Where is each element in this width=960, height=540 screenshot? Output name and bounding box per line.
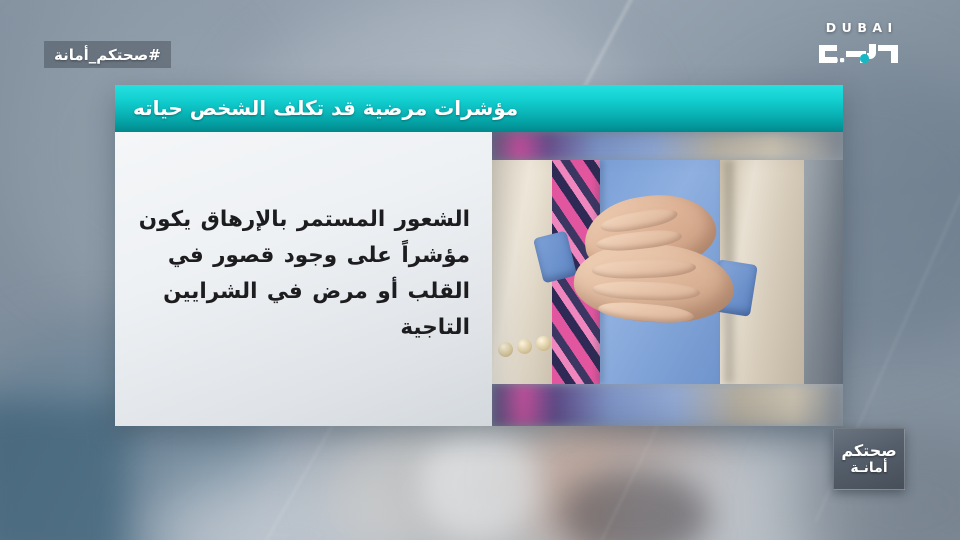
channel-wordmark: DUBAI — [813, 22, 905, 35]
program-logo-line1: صحتكم — [841, 443, 896, 460]
hashtag-badge: #صحتكم_أمانة — [44, 41, 171, 68]
headline-text: مؤشرات مرضية قد تكلف الشخص حياته — [133, 98, 518, 118]
body-text-panel: الشعور المستمر بالإرهاق يكون مؤشراً على … — [115, 132, 492, 426]
content-card: مؤشرات مرضية قد تكلف الشخص حياته الشعور … — [115, 85, 843, 426]
program-logo-bug: صحتكم أمانـة — [833, 428, 905, 490]
man-clutching-chest-photo — [492, 132, 843, 426]
photo-vignette — [492, 132, 843, 426]
hashtag-text: #صحتكم_أمانة — [54, 46, 161, 64]
body-text: الشعور المستمر بالإرهاق يكون مؤشراً على … — [131, 202, 470, 346]
program-logo-line2: أمانـة — [850, 461, 887, 476]
broadcast-frame: #صحتكم_أمانة DUBAI مؤشرات مرضية قد ت — [0, 0, 960, 540]
card-body: الشعور المستمر بالإرهاق يكون مؤشراً على … — [115, 132, 843, 426]
headline-bar: مؤشرات مرضية قد تكلف الشخص حياته — [115, 85, 843, 132]
channel-logo: DUBAI — [813, 22, 905, 67]
dubai-arabic-logo-icon — [813, 41, 905, 67]
